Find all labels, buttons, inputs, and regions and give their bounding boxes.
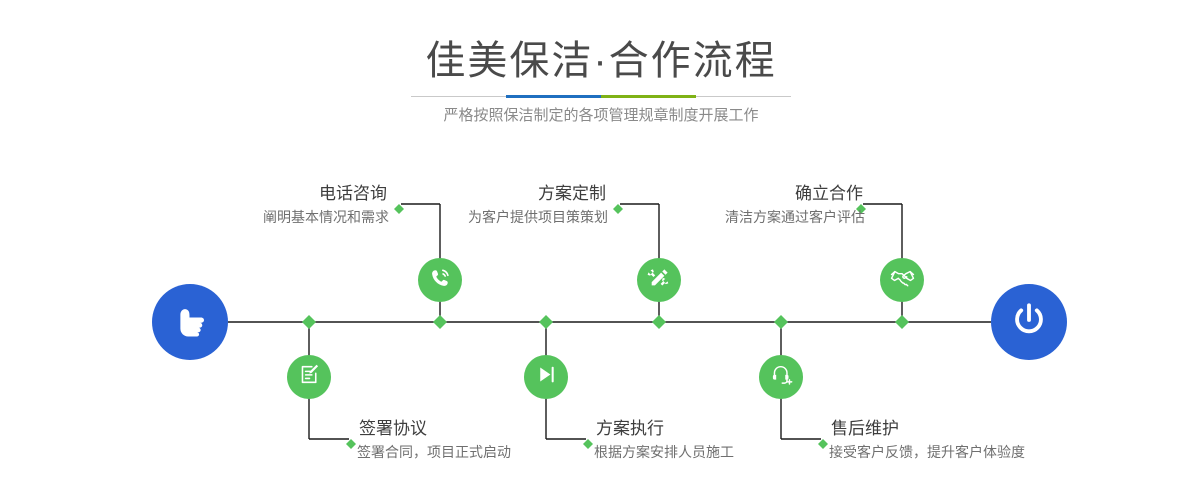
divider-segment-blue xyxy=(506,95,601,98)
process-timeline-diagram: 电话咨询 阐明基本情况和需求 方案定制 为客户提供项目策策划 确 xyxy=(0,140,1202,502)
step-title-1: 电话咨询 xyxy=(263,182,389,206)
step-desc-5: 接受客户反馈，提升客户体验度 xyxy=(829,441,1025,463)
step-title-3: 方案定制 xyxy=(468,182,608,206)
step-label-1: 电话咨询 阐明基本情况和需求 xyxy=(263,182,389,228)
step-node-5[interactable] xyxy=(759,355,803,399)
document-edit-icon xyxy=(297,362,322,392)
divider-segment-green xyxy=(601,95,696,98)
step-desc-2: 签署合同，项目正式启动 xyxy=(357,441,511,463)
title-divider xyxy=(411,95,791,98)
step-label-4: 方案执行 根据方案安排人员施工 xyxy=(594,417,734,463)
power-icon xyxy=(1007,298,1051,347)
page-title: 佳美保洁·合作流程 xyxy=(0,38,1202,84)
page-subtitle: 严格按照保洁制定的各项管理规章制度开展工作 xyxy=(0,105,1202,127)
pointing-hand-icon xyxy=(169,299,211,346)
step-title-5: 售后维护 xyxy=(829,417,1025,441)
step-label-5: 售后维护 接受客户反馈，提升客户体验度 xyxy=(829,417,1025,463)
step-desc-6: 清洁方案通过客户评估 xyxy=(725,206,865,228)
step-desc-4: 根据方案安排人员施工 xyxy=(594,441,734,463)
customer-service-icon xyxy=(769,362,794,392)
step-desc-3: 为客户提供项目策策划 xyxy=(468,206,608,228)
handshake-icon xyxy=(889,264,916,296)
page-header: 佳美保洁·合作流程 严格按照保洁制定的各项管理规章制度开展工作 xyxy=(0,0,1202,140)
step-node-1[interactable] xyxy=(418,258,462,302)
step-label-2: 签署协议 签署合同，项目正式启动 xyxy=(357,417,511,463)
step-node-6[interactable] xyxy=(880,258,924,302)
step-node-2[interactable] xyxy=(287,355,331,399)
play-execute-icon xyxy=(534,362,559,392)
label-diamond-markers xyxy=(346,204,866,449)
step-label-3: 方案定制 为客户提供项目策策划 xyxy=(468,182,608,228)
step-desc-1: 阐明基本情况和需求 xyxy=(263,206,389,228)
step-title-6: 确立合作 xyxy=(725,182,865,206)
step-label-6: 确立合作 清洁方案通过客户评估 xyxy=(725,182,865,228)
step-title-4: 方案执行 xyxy=(594,417,734,441)
timeline-start-node[interactable] xyxy=(152,284,228,360)
step-node-4[interactable] xyxy=(524,355,568,399)
step-title-2: 签署协议 xyxy=(357,417,511,441)
step-node-3[interactable] xyxy=(637,258,681,302)
phone-call-icon xyxy=(427,265,453,296)
pencil-design-icon xyxy=(646,265,672,296)
timeline-end-node[interactable] xyxy=(991,284,1067,360)
